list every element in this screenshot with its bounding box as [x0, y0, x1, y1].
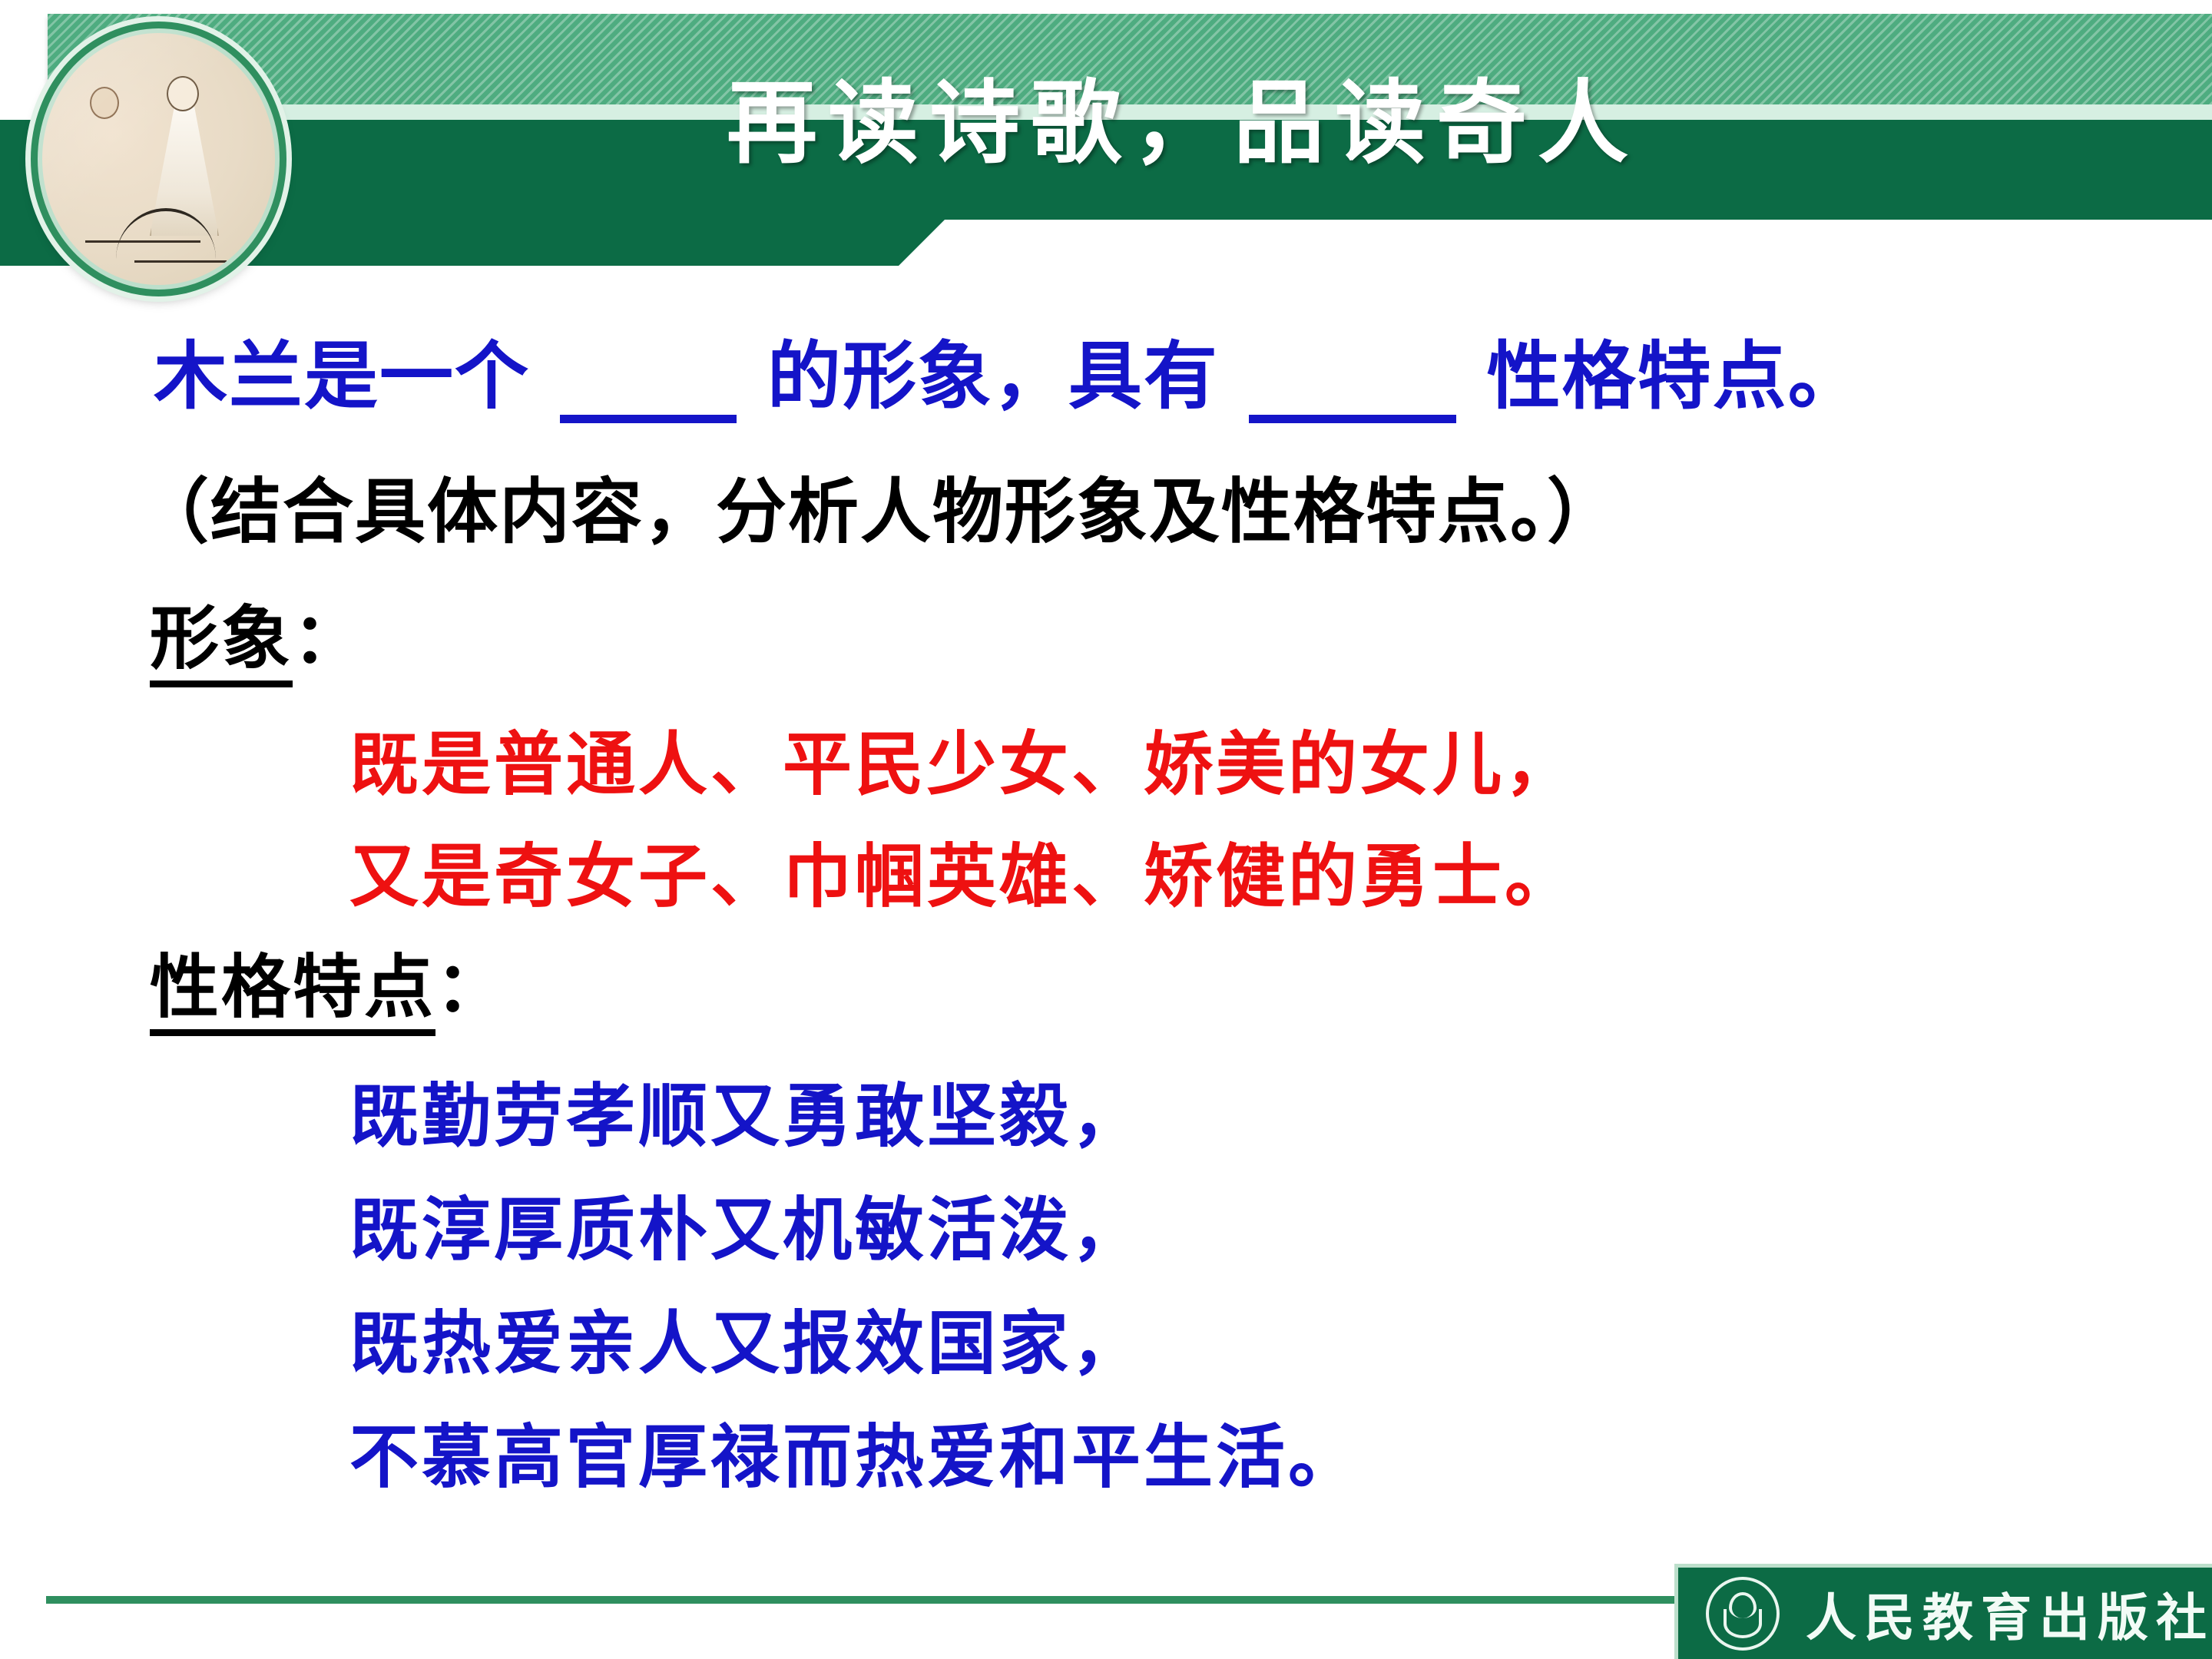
section-label-image-text: 形象 [150, 598, 293, 687]
blank-field-image[interactable] [560, 355, 737, 423]
figure-ground-line-2 [134, 260, 227, 263]
figure-right-head [167, 76, 199, 111]
traits-line-1: 既勤劳孝顺又勇敢坚毅， [349, 1060, 1144, 1160]
image-line-1: 既是普通人、平民少女、娇美的女儿， [349, 708, 1577, 808]
section-label-traits-text: 性格特点 [150, 947, 435, 1036]
blank-field-traits[interactable] [1249, 355, 1456, 423]
medallion-artwork [42, 33, 275, 285]
prompt-part-1: 木兰是一个 [154, 333, 530, 419]
traits-line-2: 既淳厚质朴又机敏活泼， [349, 1174, 1144, 1273]
fill-in-blank-prompt: 木兰是一个 的形象，具有 性格特点。 [154, 316, 1863, 423]
publisher-logo: 人民教育出版社 [1674, 1564, 2212, 1659]
slide-header: 再读诗歌，品读奇人 [0, 0, 2212, 292]
traits-line-4: 不慕高官厚禄而热爱和平生活。 [349, 1401, 1360, 1501]
section-label-traits: 性格特点： [150, 931, 507, 1031]
figure-ground-line-1 [85, 240, 200, 243]
publisher-name: 人民教育出版社 [1806, 1577, 2212, 1651]
traits-line-3: 既热爱亲人又报效国家， [349, 1287, 1144, 1387]
instruction-text: （结合具体内容，分析人物形象及性格特点。） [138, 455, 1619, 557]
section-label-traits-colon: ： [435, 947, 507, 1028]
figure-left-robe [75, 107, 131, 230]
prompt-part-2: 的形象，具有 [767, 333, 1219, 419]
page-title: 再读诗歌，品读奇人 [522, 74, 1843, 174]
prompt-part-3: 性格特点。 [1487, 333, 1863, 419]
pep-seedling-emblem-icon [1706, 1577, 1780, 1651]
image-line-2: 又是奇女子、巾帼英雄、矫健的勇士。 [349, 820, 1577, 920]
figure-left-head [90, 87, 119, 119]
header-title-bar-notch [899, 220, 945, 266]
section-label-image: 形象： [150, 582, 364, 682]
ancient-painting-figures-icon [31, 22, 286, 296]
section-label-image-colon: ： [293, 598, 364, 679]
